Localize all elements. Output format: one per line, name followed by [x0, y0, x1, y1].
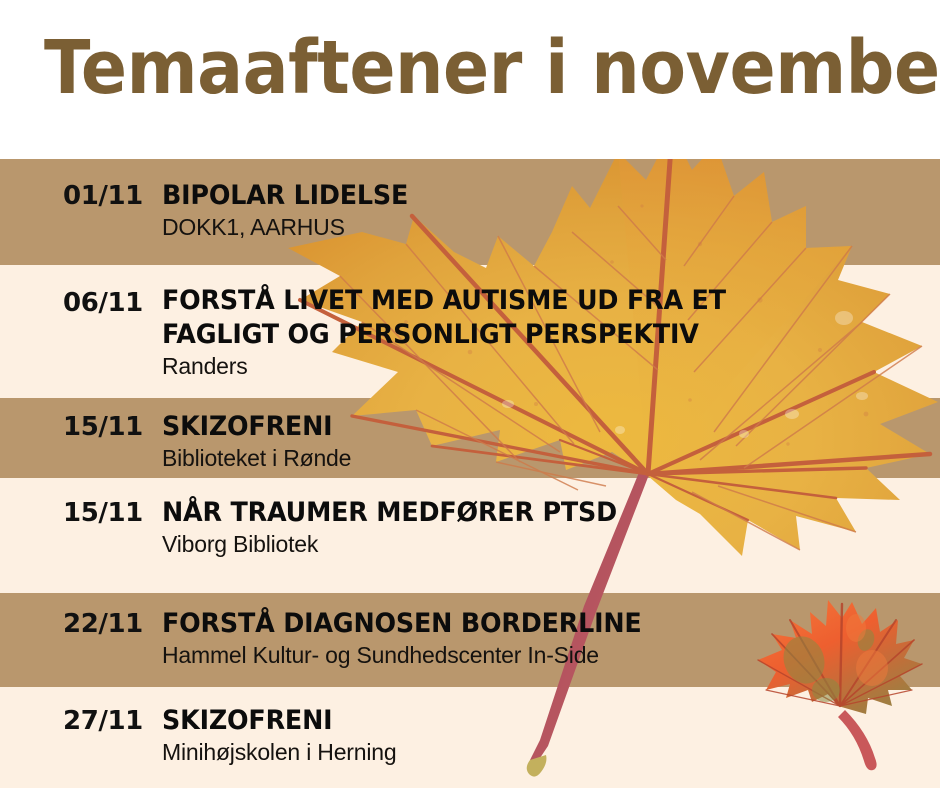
schedule-bands: 01/11 BIPOLAR LIDELSE DOKK1, AARHUS 06/1… [0, 159, 940, 788]
page-title: Temaaftener i november [44, 28, 835, 108]
schedule-row: 15/11 SKIZOFRENI Biblioteket i Rønde [0, 398, 940, 478]
schedule-row: 06/11 FORSTÅ LIVET MED AUTISME UD FRA ET… [0, 265, 940, 398]
schedule-row: 22/11 FORSTÅ DIAGNOSEN BORDERLINE Hammel… [0, 593, 940, 687]
schedule-row: 27/11 SKIZOFRENI Minihøjskolen i Herning [0, 687, 940, 788]
schedule-row: 15/11 NÅR TRAUMER MEDFØRER PTSD Viborg B… [0, 478, 940, 593]
poster-canvas: 01/11 BIPOLAR LIDELSE DOKK1, AARHUS 06/1… [0, 0, 940, 788]
schedule-row: 01/11 BIPOLAR LIDELSE DOKK1, AARHUS [0, 159, 940, 265]
poster-header: Temaaftener i november [0, 0, 940, 159]
